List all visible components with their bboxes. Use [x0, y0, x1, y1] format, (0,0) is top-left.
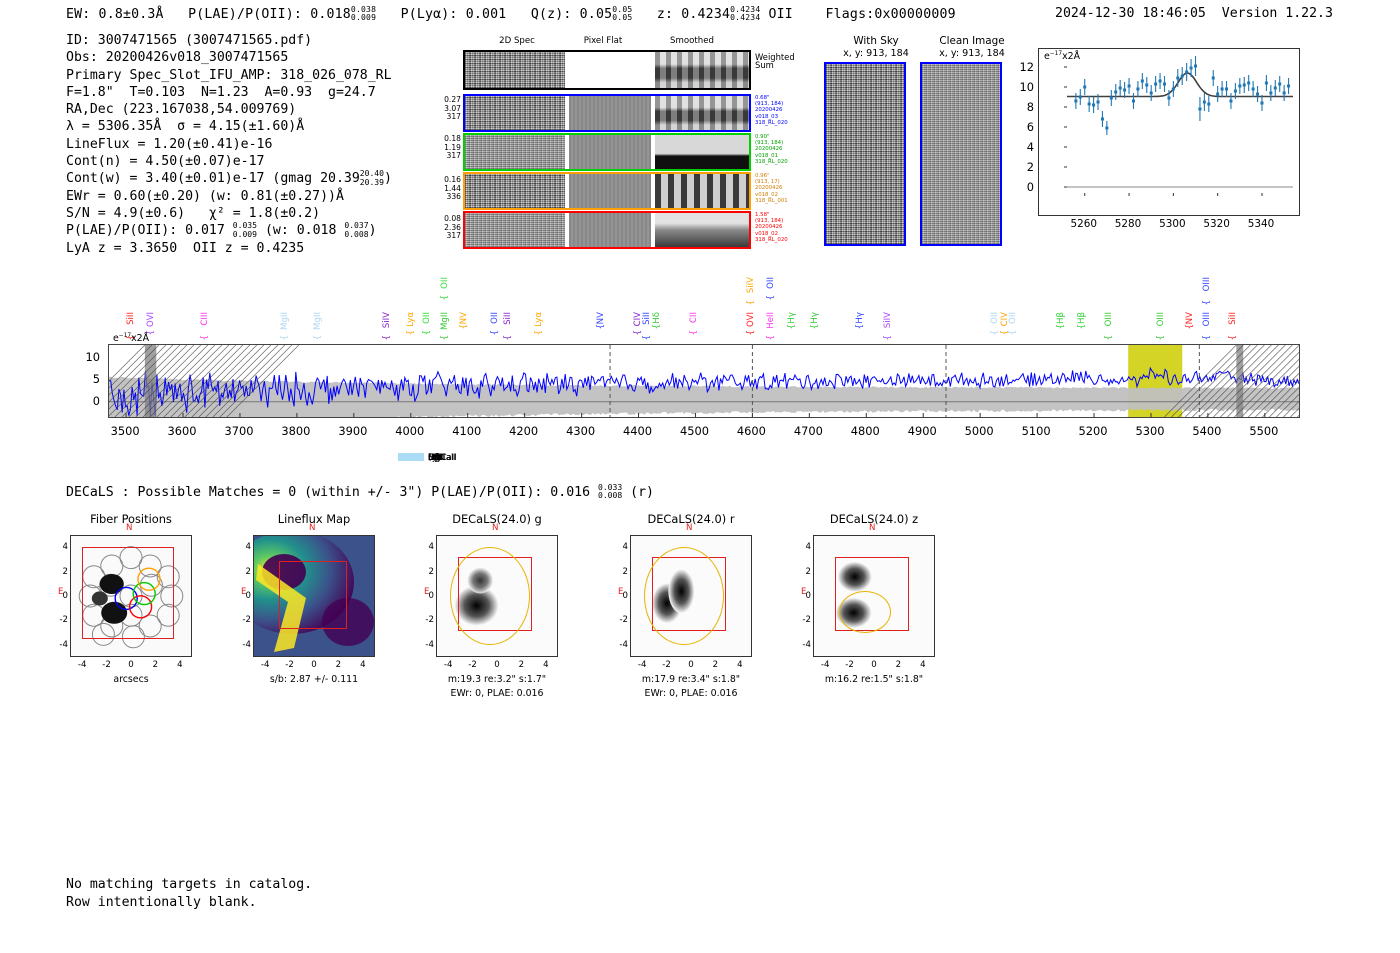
- spec2d-row-2: [463, 172, 751, 210]
- cutout-xtick: 4: [732, 660, 748, 670]
- cutout-ytick: -4: [614, 640, 628, 650]
- spec2d-col-title-pixelflat: Pixel Flat: [563, 36, 643, 46]
- decals-header-lo: 0.008: [598, 492, 622, 500]
- spectrum-line-label: NV: [596, 312, 606, 324]
- info-plae-mid: (w: 0.018: [265, 224, 336, 239]
- header-z-species: OII: [769, 7, 793, 22]
- cutout-caption-primary: m:17.9 re:3.4" s:1.8": [606, 674, 776, 685]
- cutout-ytick: 2: [614, 567, 628, 577]
- spectrum-line-bracket: {: [883, 335, 893, 340]
- fitplot-ytick: 4: [1012, 140, 1034, 154]
- fitplot-xtick: 5320: [1201, 218, 1233, 230]
- spectrum-xtick: 3600: [158, 424, 206, 438]
- header-plya: P(Lyα): 0.001: [401, 7, 507, 22]
- spectrum-line-bracket: {: [440, 295, 450, 300]
- spectrum-line-label: MgII: [313, 312, 323, 330]
- spectrum-xtick: 5500: [1240, 424, 1288, 438]
- spectrum-line-bracket: {: [746, 300, 756, 305]
- cutout-xtick: 4: [355, 660, 371, 670]
- spectrum-line-label: OIII: [1156, 312, 1166, 326]
- spec2d-weighted-sum-smoothed: [655, 52, 749, 88]
- header-plae-value: 0.018: [310, 7, 351, 22]
- fitplot-ytick: 8: [1012, 100, 1034, 114]
- cutout-ellipse-aperture: [839, 591, 891, 633]
- cutout-xtick: -4: [440, 660, 456, 670]
- spectrum-line-label: Hγ: [810, 312, 820, 324]
- legend-label: (H)CaII: [428, 452, 457, 462]
- cutout-ytick: 4: [237, 542, 251, 552]
- cutout-caption-primary: m:19.3 re:3.2" s:1.7": [412, 674, 582, 685]
- decals-header-text: DECaLS : Possible Matches = 0 (within +/…: [66, 485, 590, 500]
- spectrum-xtick: 5300: [1126, 424, 1174, 438]
- spectrum-line-label: SiII: [642, 312, 652, 325]
- withsky-image: [824, 62, 906, 246]
- cutout-xtick: 0: [489, 660, 505, 670]
- header-plae-label: P(LAE)/P(OII):: [188, 7, 302, 22]
- spectrum-line-bracket: {: [1202, 335, 1212, 340]
- spec2d-row-1-values: 0.181.19317: [435, 135, 461, 161]
- cutout-xtick: 2: [890, 660, 906, 670]
- spectrum-canvas: [109, 345, 1299, 417]
- info-redshifts: LyA z = 3.3650 OII z = 0.4235: [66, 241, 304, 256]
- cutout-xtick: 2: [513, 660, 529, 670]
- compass-north-label: N: [126, 523, 132, 533]
- spectrum-line-label: OII: [766, 277, 776, 289]
- spectrum-ytick: 0: [78, 394, 100, 408]
- header-z-lo: 0.4234: [730, 14, 760, 22]
- cutout-xtick: 4: [538, 660, 554, 670]
- spectrum-line-bracket: {: [855, 324, 865, 329]
- fitplot-units-annotation: e−17x2Å: [1044, 51, 1080, 62]
- spectrum-line-label: Hδ: [652, 312, 662, 324]
- info-plae-wlo: 0.008: [344, 231, 368, 239]
- cutout-ytick: -2: [237, 615, 251, 625]
- spec2d-row-2-values: 0.161.44336: [435, 176, 461, 202]
- withsky-subtitle: x, y: 913, 184: [826, 48, 926, 59]
- cutout-caption-primary: s/b: 2.87 +/- 0.111: [229, 674, 399, 685]
- cutout-xtick: 2: [330, 660, 346, 670]
- cutout-ytick: 4: [420, 542, 434, 552]
- spectrum-line-bracket: {: [1008, 330, 1018, 335]
- spectrum-xtick: 4300: [557, 424, 605, 438]
- cutout-xtick: 0: [866, 660, 882, 670]
- cutout-ytick: 0: [420, 591, 434, 601]
- cutout-aperture-box: [82, 547, 174, 639]
- fitplot-xtick: 5280: [1112, 218, 1144, 230]
- spectrum-line-bracket: {: [1056, 324, 1066, 329]
- spectrum-line-label: Hβ: [1077, 312, 1087, 324]
- spectrum-xtick: 5100: [1012, 424, 1060, 438]
- spectrum-line-bracket: {: [1077, 324, 1087, 329]
- header-qz: Q(z): 0.05: [531, 7, 612, 22]
- header-plae-lo: 0.009: [351, 14, 376, 22]
- spec2d-row-1-pixelflat: [569, 135, 652, 169]
- spectrum-line-bracket: {: [652, 324, 662, 329]
- cleanimage-image: [920, 62, 1002, 246]
- spec2d-row-2-pixelflat: [569, 174, 652, 208]
- cutout-xtick: 4: [915, 660, 931, 670]
- info-plae: P(LAE)/P(OII): 0.017: [66, 224, 225, 239]
- spec2d-weighted-sum-row: [463, 50, 751, 90]
- spectrum-xtick: 4600: [727, 424, 775, 438]
- cutout-ytick: 4: [797, 542, 811, 552]
- spec2d-row-0: [463, 94, 751, 132]
- cutout-ytick: 2: [237, 567, 251, 577]
- spectrum-xtick: 5200: [1069, 424, 1117, 438]
- spectrum-xtick: 5000: [955, 424, 1003, 438]
- cleanimage-subtitle: x, y: 913, 184: [922, 48, 1022, 59]
- spectrum-line-bracket: {: [766, 335, 776, 340]
- spectrum-line-label: OIII: [1104, 312, 1114, 326]
- spec2d-row-0-meta: 0.68" (913, 184) 20200426 v018_03 318_RL…: [755, 95, 788, 126]
- spectrum-ytick: 10: [78, 350, 100, 364]
- cutout-ytick: 2: [54, 567, 68, 577]
- spectrum-line-bracket: {: [766, 295, 776, 300]
- cutout-ytick: 4: [54, 542, 68, 552]
- header-ew: EW: 0.8±0.3Å: [66, 7, 164, 22]
- spectrum-xtick: 4200: [500, 424, 548, 438]
- spec2d-row-3-meta: 1.58" (913, 184) 20200426 v018_02 318_RL…: [755, 212, 788, 243]
- spectrum-line-label: SiIV: [883, 312, 893, 328]
- cutout-xtick: -2: [465, 660, 481, 670]
- cutout-ytick: -4: [420, 640, 434, 650]
- cutout-xtick: 0: [683, 660, 699, 670]
- legend-color-swatch: [398, 453, 424, 461]
- spectrum-line-bracket: {: [1202, 300, 1212, 305]
- spec2d-row-0-values: 0.273.07317: [435, 96, 461, 122]
- emission-line-fit-plot: e−17x2Å: [1038, 48, 1300, 216]
- fitplot-ytick: 0: [1012, 180, 1034, 194]
- cutout-xtick: -2: [99, 660, 115, 670]
- spectrum-line-label: HeII: [766, 312, 776, 329]
- spectrum-line-bracket: {: [810, 324, 820, 329]
- detection-info-block: ID: 3007471565 (3007471565.pdf) Obs: 202…: [66, 32, 392, 257]
- spectrum-line-bracket: {: [382, 335, 392, 340]
- spectrum-line-label: OVI: [746, 312, 756, 327]
- spec2d-row-3: [463, 211, 751, 249]
- spectrum-line-bracket: {: [1185, 324, 1195, 329]
- spectrum-line-bracket: {: [596, 324, 606, 329]
- fitplot-xtick: 5340: [1245, 218, 1277, 230]
- spectrum-line-bracket: {: [689, 330, 699, 335]
- cutout-xtick: -2: [282, 660, 298, 670]
- spec2d-weighted-sum-label: WeightedSum: [755, 54, 795, 70]
- info-lambda: λ = 5306.35Å σ = 4.15(±1.60)Å: [66, 119, 304, 134]
- spectrum-xtick: 4400: [614, 424, 662, 438]
- cutout-ytick: -4: [797, 640, 811, 650]
- info-id: ID: 3007471565 (3007471565.pdf): [66, 33, 312, 48]
- spectrum-line-bracket: {: [990, 330, 1000, 335]
- spectrum-line-bracket: {: [459, 324, 469, 329]
- spectrum-line-label: Hγ: [855, 312, 865, 324]
- spectrum-line-label: OII: [440, 277, 450, 289]
- spectrum-line-label: SiII: [1228, 312, 1238, 325]
- spectrum-ytick: 5: [78, 372, 100, 386]
- info-lineflux: LineFlux = 1.20(±0.41)e-16: [66, 137, 272, 152]
- spectrum-line-bracket: {: [787, 324, 797, 329]
- cutout-ytick: 4: [614, 542, 628, 552]
- spectrum-line-label: MgII: [440, 312, 450, 330]
- cutout-caption-primary: m:16.2 re:1.5" s:1.8": [789, 674, 959, 685]
- cutout-xtick: 0: [306, 660, 322, 670]
- cutout-ytick: 2: [420, 567, 434, 577]
- cutout-ytick: -2: [614, 615, 628, 625]
- cutout-xtick: -4: [257, 660, 273, 670]
- spectrum-line-label: Hγ: [787, 312, 797, 324]
- spectrum-line-label: OIII: [1202, 312, 1212, 326]
- spectrum-legend-item: (H)CaII: [398, 452, 457, 462]
- cutout-ytick: -4: [237, 640, 251, 650]
- spec2d-row-0-2dspec: [465, 96, 565, 130]
- spec2d-row-3-2dspec: [465, 213, 565, 247]
- cutout-caption-primary: arcsecs: [46, 674, 216, 685]
- spec2d-row-0-smoothed: [655, 96, 749, 130]
- spectrum-line-bracket: {: [1156, 335, 1166, 340]
- spectrum-line-bracket: {: [534, 330, 544, 335]
- spectrum-xtick: 3500: [101, 424, 149, 438]
- spectrum-xtick: 4500: [670, 424, 718, 438]
- spectrum-line-bracket: {: [406, 330, 416, 335]
- spec2d-row-3-smoothed: [655, 213, 749, 247]
- spectrum-line-label: OII: [490, 312, 500, 324]
- spectrum-line-label: Lyα: [406, 312, 416, 327]
- cutout-ytick: 0: [614, 591, 628, 601]
- info-cont-w: Cont(w) = 3.40(±0.01)e-17 (gmag 20.39: [66, 172, 360, 187]
- info-plae-post: ): [369, 224, 377, 239]
- cutout-ytick: -4: [54, 640, 68, 650]
- cutout-ytick: 0: [797, 591, 811, 601]
- info-obs: Obs: 20200426v018_3007471565: [66, 50, 288, 65]
- spectrum-xtick: 3800: [272, 424, 320, 438]
- spec2d-col-title-2dspec: 2D Spec: [477, 36, 557, 46]
- spectrum-xtick: 4000: [386, 424, 434, 438]
- info-cont-w-post: ): [384, 172, 392, 187]
- info-cont-n: Cont(n) = 4.50(±0.07)e-17: [66, 154, 265, 169]
- compass-north-label: N: [309, 523, 315, 533]
- spectrum-line-bracket: {: [1104, 335, 1114, 340]
- info-ewr: EWr = 0.60(±0.20) (w: 0.81(±0.27))Å: [66, 189, 344, 204]
- fitplot-ytick: 10: [1012, 80, 1034, 94]
- cutout-ytick: 2: [797, 567, 811, 577]
- spec2d-row-0-pixelflat: [569, 96, 652, 130]
- spectrum-xtick: 4900: [898, 424, 946, 438]
- header-summary-line: EW: 0.8±0.3Å P(LAE)/P(OII): 0.0180.0380.…: [66, 6, 956, 22]
- spectrum-line-label: OVI: [146, 312, 156, 327]
- spectrum-line-bracket: {: [642, 335, 652, 340]
- spectrum-line-label: MgII: [280, 312, 290, 330]
- spectrum-line-label: SiII: [503, 312, 513, 325]
- fitplot-canvas: [1039, 49, 1299, 215]
- spectrum-line-bracket: {: [440, 335, 450, 340]
- spec2d-row-2-2dspec: [465, 174, 565, 208]
- spec2d-weighted-sum-pixelflat: [569, 52, 652, 88]
- fitplot-xtick: 5260: [1068, 218, 1100, 230]
- spectrum-line-bracket: {: [422, 330, 432, 335]
- header-version: Version 1.22.3: [1222, 6, 1333, 21]
- cleanimage-title: Clean Image: [922, 35, 1022, 47]
- spectrum-xtick: 4800: [841, 424, 889, 438]
- spectrum-line-bracket: {: [313, 335, 323, 340]
- header-timestamp-version: 2024-12-30 18:46:05 Version 1.22.3: [1055, 6, 1333, 21]
- compass-north-label: N: [869, 523, 875, 533]
- compass-north-label: N: [686, 523, 692, 533]
- cutout-xtick: -4: [74, 660, 90, 670]
- spectrum-line-label: OII: [990, 312, 1000, 324]
- cutout-xtick: -4: [817, 660, 833, 670]
- fitplot-ytick: 6: [1012, 120, 1034, 134]
- info-radec: RA,Dec (223.167038,54.009769): [66, 102, 296, 117]
- spectrum-line-label: Lyα: [534, 312, 544, 327]
- spectrum-line-bracket: {: [1228, 335, 1238, 340]
- spectrum-line-bracket: {: [280, 335, 290, 340]
- spectrum-line-label: OII: [422, 312, 432, 324]
- spec2d-row-3-values: 0.082.36317: [435, 215, 461, 241]
- spec2d-row-1-smoothed: [655, 135, 749, 169]
- spectrum-line-bracket: {: [746, 330, 756, 335]
- spectrum-xtick: 5400: [1183, 424, 1231, 438]
- info-seeing: F=1.8" T=0.103 N=1.23 A=0.93 g=24.7: [66, 85, 376, 100]
- footer-line-2: Row intentionally blank.: [66, 895, 257, 910]
- info-primary-spec: Primary Spec_Slot_IFU_AMP: 318_026_078_R…: [66, 68, 392, 83]
- cutout-ytick: 0: [54, 591, 68, 601]
- spectrum-line-label: NV: [1185, 312, 1195, 324]
- spec2d-panel-group: 2D Spec Pixel Flat Smoothed WeightedSum …: [435, 36, 785, 251]
- spec2d-row-2-smoothed: [655, 174, 749, 208]
- spectrum-units-annotation: e−17x2Å: [113, 333, 149, 344]
- spec2d-row-1-meta: 0.90" (913, 184) 20200426 v018_01 318_RL…: [755, 134, 788, 165]
- decals-header: DECaLS : Possible Matches = 0 (within +/…: [66, 484, 654, 500]
- cutout-xtick: 4: [172, 660, 188, 670]
- spectrum-xtick: 3900: [329, 424, 377, 438]
- spectrum-xtick: 3700: [215, 424, 263, 438]
- header-datetime: 2024-12-30 18:46:05: [1055, 6, 1206, 21]
- spec2d-row-3-pixelflat: [569, 213, 652, 247]
- fitplot-ytick: 2: [1012, 160, 1034, 174]
- spectrum-line-label: NV: [459, 312, 469, 324]
- spectrum-line-label: SiII: [126, 312, 136, 325]
- cutout-aperture-box: [279, 561, 347, 629]
- spectrum-line-label: CII: [689, 312, 699, 323]
- spec2d-weighted-sum-2dspec: [465, 52, 565, 88]
- header-qz-lo: 0.05: [612, 14, 632, 22]
- spectrum-line-label: Hβ: [1056, 312, 1066, 324]
- spectrum-xtick: 4700: [784, 424, 832, 438]
- info-plae-lo: 0.009: [233, 231, 257, 239]
- spec2d-row-2-meta: 0.96" (913, 17) 20200426 v018_02 318_RL_…: [755, 173, 788, 204]
- cutout-xtick: -2: [842, 660, 858, 670]
- spectrum-line-label: OIII: [1202, 277, 1212, 291]
- spec2d-row-1-2dspec: [465, 135, 565, 169]
- full-spectrum-plot: e−17x2Å: [108, 344, 1300, 418]
- spec2d-col-title-smoothed: Smoothed: [647, 36, 737, 46]
- cutout-xtick: -2: [659, 660, 675, 670]
- decals-header-band: (r): [630, 485, 654, 500]
- cutout-ellipse-aperture: [450, 547, 530, 645]
- spectrum-line-label: OII: [1008, 312, 1018, 324]
- info-cont-w-lo: 20.39: [360, 179, 384, 187]
- footer-note: No matching targets in catalog. Row inte…: [66, 876, 312, 912]
- cutout-ytick: -2: [420, 615, 434, 625]
- withsky-title: With Sky: [826, 35, 926, 47]
- footer-line-1: No matching targets in catalog.: [66, 877, 312, 892]
- fitplot-xtick: 5300: [1156, 218, 1188, 230]
- header-z: z: 0.4234: [657, 7, 730, 22]
- spectrum-line-label: SiIV: [382, 312, 392, 328]
- cutout-xtick: 2: [707, 660, 723, 670]
- cutout-ytick: -2: [54, 615, 68, 625]
- fitplot-ytick: 12: [1012, 60, 1034, 74]
- cutout-ytick: -2: [797, 615, 811, 625]
- spectrum-line-label: SiIV: [746, 277, 756, 293]
- cutout-ellipse-aperture: [644, 547, 724, 645]
- info-sn: S/N = 4.9(±0.6) χ² = 1.8(±0.2): [66, 206, 320, 221]
- compass-north-label: N: [492, 523, 498, 533]
- header-flags: Flags:0x00000009: [826, 7, 956, 22]
- cutout-ytick: 0: [237, 591, 251, 601]
- cutout-xtick: 0: [123, 660, 139, 670]
- spectrum-line-label: CIII: [200, 312, 210, 326]
- cutout-xtick: 2: [147, 660, 163, 670]
- cutout-caption-secondary: EWr: 0, PLAE: 0.016: [412, 688, 582, 699]
- spectrum-line-bracket: {: [490, 330, 500, 335]
- spectrum-line-bracket: {: [503, 335, 513, 340]
- spec2d-row-1: [463, 133, 751, 171]
- spectrum-line-bracket: {: [200, 335, 210, 340]
- cutout-caption-secondary: EWr: 0, PLAE: 0.016: [606, 688, 776, 699]
- spectrum-xtick: 4100: [443, 424, 491, 438]
- cutout-xtick: -4: [634, 660, 650, 670]
